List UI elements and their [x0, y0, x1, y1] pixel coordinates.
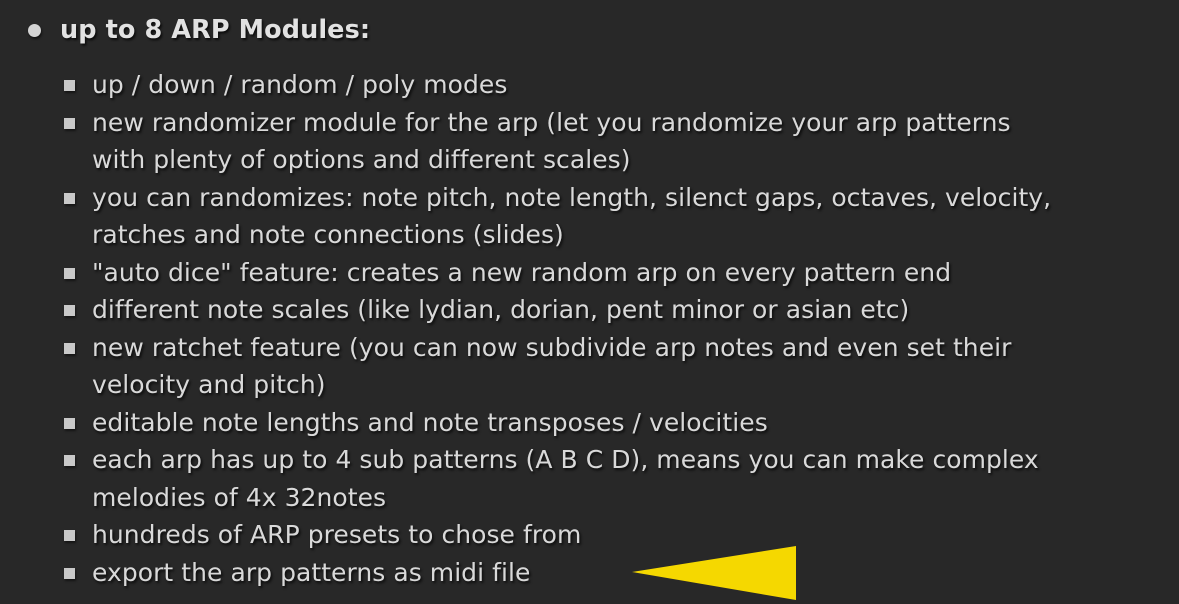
heading-bullet-item: up to 8 ARP Modules: — [28, 12, 1179, 49]
list-item-line: velocity and pitch) — [92, 366, 1179, 404]
list-item-body: export the arp patterns as midi file — [64, 554, 1179, 592]
square-bullet-icon — [64, 343, 75, 354]
list-item-body: you can randomizes: note pitch, note len… — [64, 179, 1179, 254]
list-item-line: with plenty of options and different sca… — [92, 141, 1179, 179]
list-item: editable note lengths and note transpose… — [64, 404, 1179, 442]
list-item-line: "auto dice" feature: creates a new rando… — [92, 254, 1179, 292]
list-item-body: new randomizer module for the arp (let y… — [64, 104, 1179, 179]
list-item-line: new randomizer module for the arp (let y… — [92, 104, 1179, 142]
list-item-line: you can randomizes: note pitch, note len… — [92, 179, 1179, 217]
feature-list: up / down / random / poly modesnew rando… — [64, 66, 1179, 591]
list-item: hundreds of ARP presets to chose from — [64, 516, 1179, 554]
list-item-line: new ratchet feature (you can now subdivi… — [92, 329, 1179, 367]
list-item-body: editable note lengths and note transpose… — [64, 404, 1179, 442]
list-item-line: each arp has up to 4 sub patterns (A B C… — [92, 441, 1179, 479]
slide-canvas: up to 8 ARP Modules: up / down / random … — [0, 0, 1179, 604]
page-title: up to 8 ARP Modules: — [60, 12, 370, 49]
list-item-body: "auto dice" feature: creates a new rando… — [64, 254, 1179, 292]
list-item: each arp has up to 4 sub patterns (A B C… — [64, 441, 1179, 516]
list-item-body: each arp has up to 4 sub patterns (A B C… — [64, 441, 1179, 516]
list-item-body: hundreds of ARP presets to chose from — [64, 516, 1179, 554]
list-item-line: editable note lengths and note transpose… — [92, 404, 1179, 442]
square-bullet-icon — [64, 118, 75, 129]
list-item: up / down / random / poly modes — [64, 66, 1179, 104]
square-bullet-icon — [64, 305, 75, 316]
list-item: different note scales (like lydian, dori… — [64, 291, 1179, 329]
list-item-body: new ratchet feature (you can now subdivi… — [64, 329, 1179, 404]
list-item-line: ratches and note connections (slides) — [92, 216, 1179, 254]
square-bullet-icon — [64, 530, 75, 541]
list-item-line: export the arp patterns as midi file — [92, 554, 1179, 592]
square-bullet-icon — [64, 268, 75, 279]
list-item-line: different note scales (like lydian, dori… — [92, 291, 1179, 329]
list-item: new randomizer module for the arp (let y… — [64, 104, 1179, 179]
list-item: you can randomizes: note pitch, note len… — [64, 179, 1179, 254]
square-bullet-icon — [64, 80, 75, 91]
list-item: "auto dice" feature: creates a new rando… — [64, 254, 1179, 292]
square-bullet-icon — [64, 455, 75, 466]
list-item: export the arp patterns as midi file — [64, 554, 1179, 592]
list-item-body: up / down / random / poly modes — [64, 66, 1179, 104]
list-item-line: hundreds of ARP presets to chose from — [92, 516, 1179, 554]
disc-bullet-icon — [28, 24, 41, 37]
list-item-body: different note scales (like lydian, dori… — [64, 291, 1179, 329]
list-item-line: up / down / random / poly modes — [92, 66, 1179, 104]
list-item: new ratchet feature (you can now subdivi… — [64, 329, 1179, 404]
list-item-line: melodies of 4x 32notes — [92, 479, 1179, 517]
square-bullet-icon — [64, 193, 75, 204]
square-bullet-icon — [64, 568, 75, 579]
square-bullet-icon — [64, 418, 75, 429]
